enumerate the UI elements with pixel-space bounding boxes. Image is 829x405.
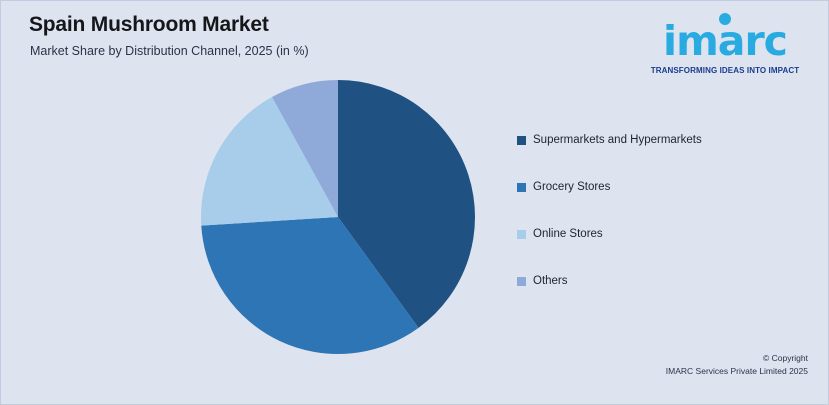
- copyright-notice: © Copyright IMARC Services Private Limit…: [666, 352, 808, 378]
- legend-item[interactable]: Supermarkets and Hypermarkets: [517, 133, 767, 180]
- legend-swatch-icon: [517, 183, 526, 192]
- legend-item-label: Online Stores: [533, 227, 603, 241]
- legend-swatch-icon: [517, 136, 526, 145]
- legend-item-label: Others: [533, 274, 568, 288]
- legend-item-label: Grocery Stores: [533, 180, 610, 194]
- legend-item[interactable]: Grocery Stores: [517, 180, 767, 227]
- legend-item[interactable]: Online Stores: [517, 227, 767, 274]
- legend-item[interactable]: Others: [517, 274, 767, 321]
- legend-swatch-icon: [517, 277, 526, 286]
- chart-legend: Supermarkets and HypermarketsGrocery Sto…: [517, 133, 767, 321]
- copyright-line-1: © Copyright: [666, 352, 808, 365]
- chart-canvas: Spain Mushroom Market Market Share by Di…: [0, 0, 829, 405]
- legend-swatch-icon: [517, 230, 526, 239]
- legend-item-label: Supermarkets and Hypermarkets: [533, 133, 702, 147]
- copyright-line-2: IMARC Services Private Limited 2025: [666, 365, 808, 378]
